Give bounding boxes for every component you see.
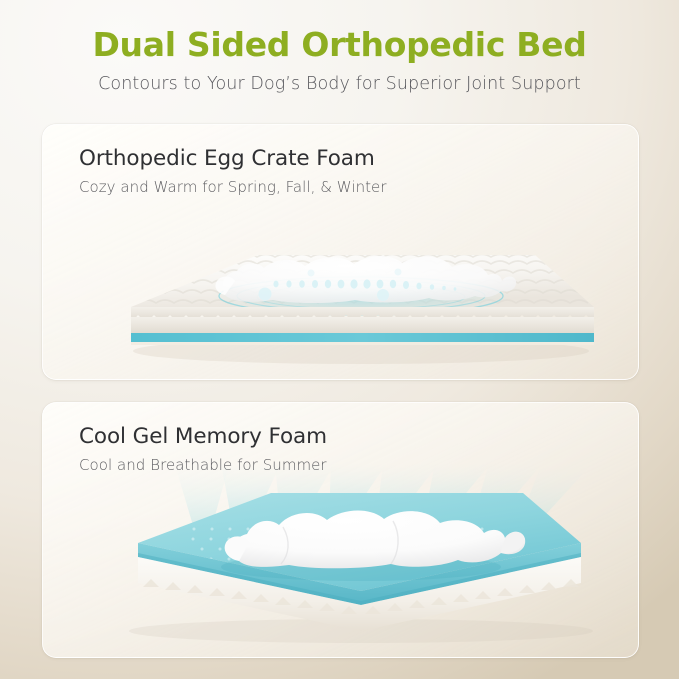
feature-card-cool-gel: Cool Gel Memory Foam Cool and Breathable… [42, 402, 639, 658]
egg-crate-foam-svg [43, 211, 638, 379]
card-title-egg-crate: Orthopedic Egg Crate Foam [79, 146, 638, 171]
card-header-egg-crate: Orthopedic Egg Crate Foam Cozy and Warm … [43, 125, 638, 196]
card-title-cool-gel: Cool Gel Memory Foam [79, 424, 638, 449]
base-underlip [131, 342, 594, 345]
page-subtitle: Contours to Your Dog’s Body for Superior… [0, 74, 679, 95]
header: Dual Sided Orthopedic Bed Contours to Yo… [0, 26, 679, 95]
page-title: Dual Sided Orthopedic Bed [0, 26, 679, 64]
base-accent-strip [131, 333, 594, 342]
infographic-page: Dual Sided Orthopedic Bed Contours to Yo… [0, 0, 679, 679]
gel-memory-foam-svg [43, 463, 638, 657]
illustration-gel-memory-foam [43, 463, 638, 657]
card-subtitle-egg-crate: Cozy and Warm for Spring, Fall, & Winter [79, 178, 638, 196]
illustration-egg-crate-foam [43, 211, 638, 379]
feature-card-egg-crate: Orthopedic Egg Crate Foam Cozy and Warm … [42, 124, 639, 380]
